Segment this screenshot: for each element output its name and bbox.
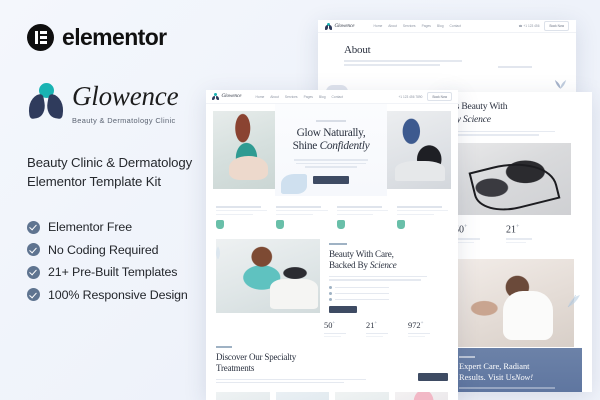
treatment-card[interactable] [216,392,270,400]
about-hero: About [318,33,576,66]
home-nav-actions: +1 123 456 7890 Book Now [398,92,452,101]
bullet-dot-icon [329,298,332,301]
check-circle-icon [27,288,40,301]
hero-cta-button[interactable] [313,176,349,184]
feature-item [276,206,327,229]
leaf-decor-icon [564,292,584,310]
about-nav-item[interactable]: Services [403,24,416,28]
home-stat: 50+ [324,321,346,337]
feature-label: Elementor Free [48,220,132,234]
mockup-about-page: Glowence Home About Services Pages Blog … [318,20,576,94]
specialty-heading-line1: Discover Our Specialty [216,352,296,362]
promo-headline-line2: Elementor Template Kit [27,174,161,189]
promo-feature-list: Elementor Free No Coding Required 21+ Pr… [27,220,215,302]
promo-headline-line1: Beauty Clinic & Dermatology [27,155,192,170]
feature-icon [337,220,345,229]
mockup-service-page: ds Beauty With By Science 50+ 21+ Expert [442,92,592,392]
home-about-section: Beauty With Care, Backed By Science [206,229,458,313]
service-stat: 21+ [506,224,532,243]
feature-item [337,206,388,229]
service-heading: ds Beauty With By Science [451,101,592,127]
feature-item [216,206,267,229]
about-nav-menu: Home About Services Pages Blog Contact [374,24,461,28]
about-heading-emphasis: Science [370,260,397,270]
list-item: 21+ Pre-Built Templates [27,265,215,279]
hero-image-right [387,111,451,189]
home-phone-text[interactable]: +1 123 456 7890 [398,95,422,99]
specialty-heading-line2: Treatments [216,363,254,373]
feature-icon [276,220,284,229]
service-team-image [456,259,574,347]
about-nav-item[interactable]: Blog [437,24,444,28]
home-nav-logo-text: Glowence [222,94,242,99]
service-stat-sup: + [464,224,467,230]
service-cta-heading: Expert Care, Radiant Results. Visit UsNo… [459,362,582,384]
about-heading-line1: Beauty With Care, [329,249,394,259]
elementor-logo: elementor [27,24,215,51]
service-cta-line1: Expert Care, Radiant [459,362,529,371]
service-cta-kicker [459,356,475,358]
bullet-dot-icon [329,286,332,289]
feature-label: 21+ Pre-Built Templates [48,265,177,279]
check-circle-icon [27,243,40,256]
service-heading-line1: ds Beauty With [451,101,507,112]
home-nav-item-about[interactable]: About [270,95,279,99]
home-nav-item-home[interactable]: Home [256,95,265,99]
home-nav-item-blog[interactable]: Blog [319,95,326,99]
about-nav-logo: Glowence [325,23,355,30]
about-read-more-button[interactable] [329,306,357,313]
glowence-brand-name: Glowence [72,81,178,111]
glowence-leaf-icon [27,82,65,120]
promo-headline: Beauty Clinic & Dermatology Elementor Te… [27,153,215,191]
feature-icon [216,220,224,229]
about-phone-text: ☎ +1 123 456 [519,24,540,28]
home-nav-logo[interactable]: Glowence [212,93,242,100]
home-specialty-section: Discover Our Specialty Treatments [206,337,458,383]
glowence-brand-lockup: Glowence Beauty & Dermatology Clinic [27,80,215,128]
treatment-card[interactable] [276,392,330,400]
service-stat-sup: + [516,224,519,230]
home-features-strip [206,196,458,229]
home-stats-row: 50+ 21+ 972+ [206,313,458,337]
service-hero-image [451,143,571,215]
about-page-title: About [344,44,576,56]
about-nav-logo-text: Glowence [335,24,355,29]
service-cta-emphasis: Now! [515,373,533,382]
leaf-decor-icon [553,75,568,90]
specialty-heading: Discover Our Specialty Treatments [216,352,448,375]
glowence-leaf-icon [325,23,332,30]
service-stat-value: 21 [506,224,516,235]
home-stat-value: 972 [408,321,421,330]
promo-left-panel: elementor Glowence Beauty & Dermatology … [0,0,215,400]
hero-subtext-placeholder [294,159,368,169]
mockup-home-page: Glowence Home About Services Pages Blog … [206,90,458,400]
service-cta-band: Expert Care, Radiant Results. Visit UsNo… [451,348,582,392]
check-circle-icon [27,221,40,234]
feature-label: 100% Responsive Design [48,288,188,302]
check-circle-icon [27,266,40,279]
about-section-image [216,239,320,313]
feature-label: No Coding Required [48,243,158,257]
hero-kicker [316,120,346,121]
about-book-button[interactable]: Book Now [544,21,569,30]
hero-title: Glow Naturally, Shine Confidently [293,127,370,155]
specialty-view-all-button[interactable] [418,373,448,381]
about-bullet-list [329,286,448,301]
about-nav-item[interactable]: Pages [422,24,431,28]
promo-banner: Glowence Home About Services Pages Blog … [0,0,600,400]
list-item: Elementor Free [27,220,215,234]
list-item: No Coding Required [27,243,215,257]
home-stat: 21+ [366,321,388,337]
hero-title-line2: Shine [293,140,320,152]
hero-decor-blob [281,174,307,194]
bullet-dot-icon [329,292,332,295]
service-intro: ds Beauty With By Science [442,92,592,136]
home-book-button[interactable]: Book Now [427,92,452,101]
service-cta-line2: Results. Visit Us [459,373,515,382]
home-nav-item-services[interactable]: Services [285,95,298,99]
specialty-kicker [216,346,232,347]
home-nav-item-contact[interactable]: Contact [332,95,343,99]
service-paragraph-placeholder [451,131,592,136]
about-heading-line2: Backed By [329,260,370,270]
treatment-card[interactable] [395,392,449,400]
hero-title-emphasis: Confidently [320,140,370,152]
elementor-logo-icon [27,24,54,51]
elementor-wordmark: elementor [62,26,167,49]
about-nav-item[interactable]: Contact [450,24,461,28]
about-bullet-item [329,298,448,301]
about-side-line [498,66,532,68]
home-stat: 972+ [408,321,430,337]
home-nav-bar: Glowence Home About Services Pages Blog … [206,90,458,104]
about-nav-item[interactable]: Home [374,24,383,28]
service-stats: 50+ 21+ [442,215,592,243]
home-nav-item-pages[interactable]: Pages [304,95,313,99]
hero-content: Glow Naturally, Shine Confidently [275,104,387,196]
treatment-card-row [206,385,458,400]
about-nav-actions: ☎ +1 123 456 Book Now [519,21,569,30]
about-bullet-item [329,286,448,289]
home-stat-sup: + [421,321,424,326]
about-nav-item[interactable]: About [388,24,397,28]
about-bullet-item [329,292,448,295]
specialty-paragraph-placeholder [216,379,448,384]
list-item: 100% Responsive Design [27,288,215,302]
about-nav-bar: Glowence Home About Services Pages Blog … [318,20,576,33]
about-section-heading: Beauty With Care, Backed By Science [329,249,448,273]
about-section-text: Beauty With Care, Backed By Science [329,239,448,313]
feature-icon [397,220,405,229]
about-kicker [329,243,347,244]
feature-item [397,206,448,229]
treatment-card[interactable] [335,392,389,400]
hero-image-left [213,111,275,189]
hero-title-line1: Glow Naturally, [297,127,366,139]
glowence-brand-tagline: Beauty & Dermatology Clinic [72,116,176,125]
home-stat-sup: + [374,321,377,326]
about-paragraph-placeholder [329,276,448,281]
about-paragraph-placeholder [344,60,576,66]
home-hero-section: Glow Naturally, Shine Confidently [206,104,458,196]
home-stat-sup: + [332,321,335,326]
home-nav-menu: Home About Services Pages Blog Contact [256,95,343,99]
